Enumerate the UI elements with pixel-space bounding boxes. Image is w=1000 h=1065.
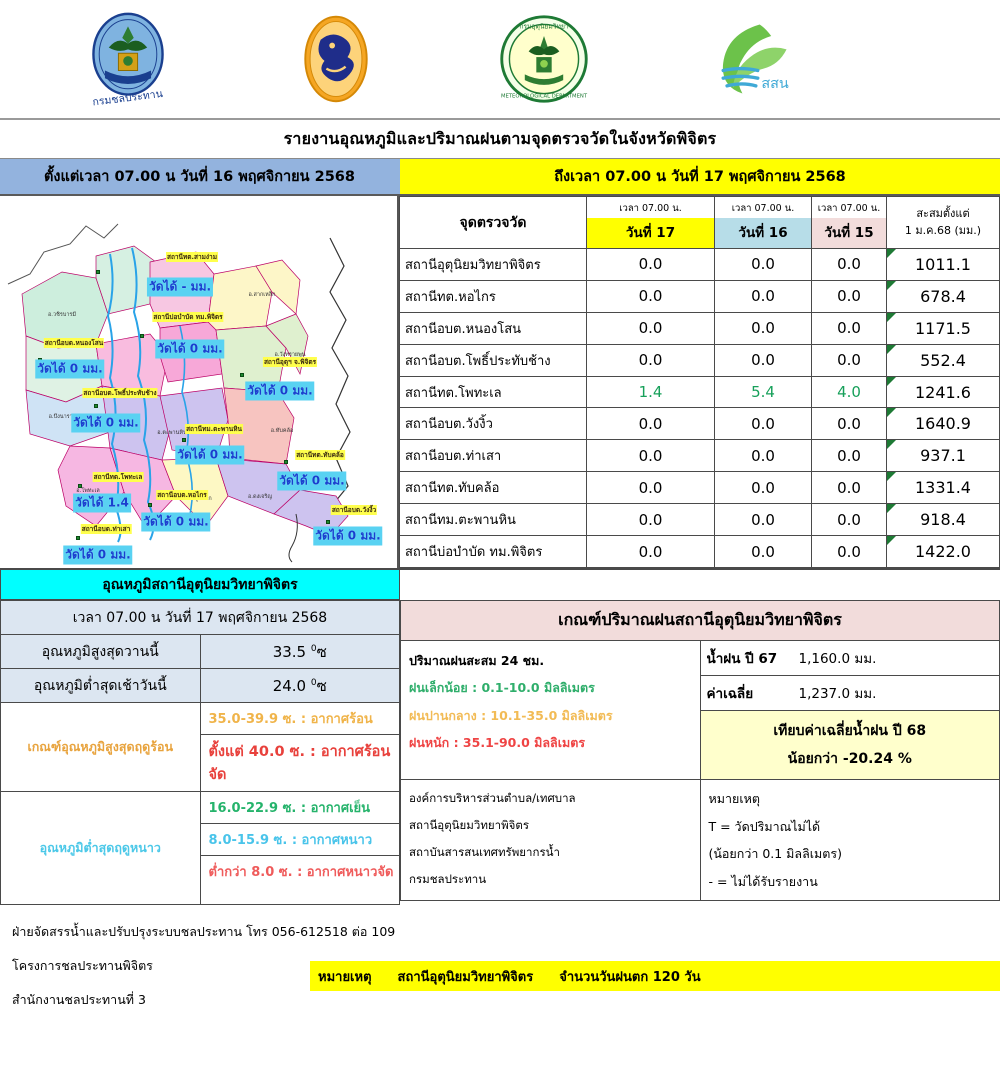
cell-day17: 0.0 — [587, 280, 715, 312]
temperature-timestamp: เวลา 07.00 น วันที่ 17 พฤศจิกายน 2568 — [1, 601, 400, 635]
temperature-panel: เวลา 07.00 น วันที่ 17 พฤศจิกายน 2568 อุ… — [0, 600, 400, 905]
table-row: สถานีอบต.หนองโสน0.00.00.01171.5 — [400, 312, 1000, 344]
organization-item: กรมชลประทาน — [409, 866, 700, 893]
map-station-marker — [182, 438, 186, 442]
cell-day16: 0.0 — [715, 504, 812, 536]
max-temp-value: 33.5 0ซ — [200, 635, 400, 669]
banner-spacer — [400, 568, 1000, 600]
table-header-row: จุดตรวจวัด เวลา 07.00 น. วันที่ 17 เวลา … — [400, 197, 1000, 249]
cell-accumulated: 918.4 — [887, 504, 1000, 536]
map-station-name-label: สถานีอุตุฯ จ.พิจิตร — [263, 357, 317, 367]
cold-criteria-line-3: ต่ำกว่า 8.0 ซ. : อากาศหนาวจัด — [200, 856, 400, 905]
note-item: (น้อยกว่า 0.1 มิลลิเมตร) — [709, 840, 1000, 868]
max-temp-row: อุณหภูมิสูงสุดวานนี้ 33.5 0ซ — [1, 635, 400, 669]
cell-accumulated: 1011.1 — [887, 249, 1000, 281]
cell-day17: 0.0 — [587, 344, 715, 376]
cell-day15: 0.0 — [812, 440, 887, 472]
temperature-table: เวลา 07.00 น วันที่ 17 พฤศจิกายน 2568 อุ… — [0, 600, 400, 905]
map-station-value-label: วัดได้ 0 มม. — [277, 471, 346, 490]
footer: ฝ่ายจัดสรรน้ำและปรับปรุงระบบชลประทาน โทร… — [0, 905, 1000, 1017]
table-row: สถานีทต.ทับคล้อ0.00.00.01331.4 — [400, 472, 1000, 504]
cell-day15: 0.0 — [812, 312, 887, 344]
map-station-marker — [240, 373, 244, 377]
comparison-line1: เทียบค่าเฉลี่ยน้ำฝน ปี 68 — [701, 717, 1000, 745]
cell-day16: 0.0 — [715, 344, 812, 376]
year67-rainfall-row: น้ำฝน ปี 671,160.0 มม. — [700, 641, 1000, 676]
table-row: สถานีทต.โพทะเล1.45.44.01241.6 — [400, 376, 1000, 408]
year67-value: 1,160.0 มม. — [799, 651, 877, 667]
cell-station-name: สถานีอุตุนิยมวิทยาพิจิตร — [400, 249, 587, 281]
table-row: สถานีทต.หอไกร0.00.00.0678.4 — [400, 280, 1000, 312]
cell-day15: 0.0 — [812, 249, 887, 281]
average-rainfall-row: ค่าเฉลี่ย1,237.0 มม. — [700, 676, 1000, 711]
map-station-value-label: วัดได้ 0 มม. — [313, 527, 382, 546]
footer-note-highlight: หมายเหตุ สถานีอุตุนิยมวิทยาพิจิตร จำนวนว… — [310, 961, 1000, 991]
cold-criteria-line-2: 8.0-15.9 ซ. : อากาศหนาว — [200, 824, 400, 856]
map-station-value-label: วัดได้ - มม. — [147, 278, 213, 297]
min-temp-unit: ซ — [317, 677, 327, 695]
cell-station-name: สถานีทต.หอไกร — [400, 280, 587, 312]
map-station-marker — [78, 484, 82, 488]
temperature-banner-row: อุณหภูมิสถานีอุตุนิยมวิทยาพิจิตร — [0, 568, 1000, 600]
organization-item: สถานีอุตุนิยมวิทยาพิจิตร — [409, 812, 700, 839]
notes-list: หมายเหตุ T = วัดปริมาณไม่ได้ (น้อยกว่า 0… — [700, 780, 1000, 901]
cell-station-name: สถานีบ่อบำบัด ทม.พิจิตร — [400, 536, 587, 568]
map-station-value-label: วัดได้ 1.4 — [73, 493, 131, 512]
map-station-value-label: วัดได้ 0 มม. — [245, 382, 314, 401]
col-header-day15-label: วันที่ 15 — [812, 218, 886, 248]
phichit-province-logo — [288, 11, 384, 107]
col-header-day15-time: เวลา 07.00 น. — [812, 197, 886, 218]
note-item: - = ไม่ได้รับรายงาน — [709, 868, 1000, 896]
map-station-name-label: สถานีทม.ตะพานหิน — [185, 424, 243, 434]
cold-criteria-label: อุณหภูมิต่ำสุดฤดูหนาว — [1, 792, 201, 905]
col-header-accumulated: สะสมตั้งแต่ 1 ม.ค.68 (มม.) — [887, 197, 1000, 249]
cell-station-name: สถานีอบต.โพธิ์ประทับช้าง — [400, 344, 587, 376]
svg-text:กรมอุตุนิยมวิทยา: กรมอุตุนิยมวิทยา — [519, 22, 569, 30]
cell-station-name: สถานีอบต.วังงิ้ว — [400, 408, 587, 440]
map-station-name-label: สถานีบ่อบำบัด ทม.พิจิตร — [152, 312, 223, 322]
hot-criteria-line-1: 35.0-39.9 ซ. : อากาศร้อน — [200, 703, 400, 735]
map-station-value-label: วัดได้ 0 มม. — [175, 445, 244, 464]
cell-day15: 0.0 — [812, 408, 887, 440]
svg-text:METEOROLOGICAL DEPARTMENT: METEOROLOGICAL DEPARTMENT — [501, 93, 588, 99]
cell-day15: 0.0 — [812, 536, 887, 568]
cell-day16: 0.0 — [715, 280, 812, 312]
note-item: T = วัดปริมาณไม่ได้ — [709, 813, 1000, 841]
max-temp-unit: ซ — [317, 643, 327, 661]
rainfall-criteria-header: เกณฑ์ปริมาณฝนสถานีอุตุนิยมวิทยาพิจิตร — [401, 601, 1000, 641]
svg-text:อ.ทับคล้อ: อ.ทับคล้อ — [271, 427, 294, 434]
map-station-marker — [94, 404, 98, 408]
table-row: สถานีอบต.ท่าเสา0.00.00.0937.1 — [400, 440, 1000, 472]
rainfall-level-heavy: ฝนหนัก : 35.1-90.0 มิลลิเมตร — [409, 729, 700, 756]
cold-criteria-line-1: 16.0-22.9 ซ. : อากาศเย็น — [200, 792, 400, 824]
rainfall-table: จุดตรวจวัด เวลา 07.00 น. วันที่ 17 เวลา … — [399, 196, 1000, 568]
date-range-bar: ตั้งแต่เวลา 07.00 น วันที่ 16 พฤศจิกายน … — [0, 158, 1000, 196]
max-temp-label: อุณหภูมิสูงสุดวานนี้ — [1, 635, 201, 669]
royal-irrigation-department-logo: กรมชลประทาน — [80, 11, 176, 107]
cell-day15: 0.0 — [812, 472, 887, 504]
footer-note-station: สถานีอุตุนิยมวิทยาพิจิตร — [398, 966, 534, 987]
footer-note-label: หมายเหตุ — [318, 966, 372, 987]
col-header-day16-label: วันที่ 16 — [715, 218, 811, 248]
table-row: สถานีอบต.โพธิ์ประทับช้าง0.00.00.0552.4 — [400, 344, 1000, 376]
rainfall-accum-title: ปริมาณฝนสะสม 24 ชม. — [409, 647, 700, 674]
min-temp-label: อุณหภูมิต่ำสุดเช้าวันนี้ — [1, 669, 201, 703]
cell-accumulated: 1640.9 — [887, 408, 1000, 440]
cell-day17: 0.0 — [587, 408, 715, 440]
map-station-marker — [140, 334, 144, 338]
cell-day16: 0.0 — [715, 440, 812, 472]
map-station-marker — [76, 536, 80, 540]
table-row: สถานีอุตุนิยมวิทยาพิจิตร0.00.00.01011.1 — [400, 249, 1000, 281]
page-title: รายงานอุณหภูมิและปริมาณฝนตามจุดตรวจวัดใน… — [0, 120, 1000, 158]
map-station-name-label: สถานีอบต.หนองโสน — [44, 338, 104, 348]
svg-text:อ.สากเหล็ก: อ.สากเหล็ก — [248, 290, 275, 298]
cell-accumulated: 1422.0 — [887, 536, 1000, 568]
cell-day17: 1.4 — [587, 376, 715, 408]
col-header-acc-line2: 1 ม.ค.68 (มม.) — [888, 223, 998, 240]
rainfall-table-body: สถานีอุตุนิยมวิทยาพิจิตร0.00.00.01011.1ส… — [400, 249, 1000, 568]
logo-bar: กรมชลประทาน กรมอุตุนิยมวิทยา METEOROLOGI… — [0, 0, 1000, 120]
table-row: สถานีทม.ตะพานหิน0.00.00.0918.4 — [400, 504, 1000, 536]
rainfall-levels-list: ปริมาณฝนสะสม 24 ชม. ฝนเล็กน้อย : 0.1-10.… — [401, 641, 701, 780]
temperature-banner: อุณหภูมิสถานีอุตุนิยมวิทยาพิจิตร — [0, 568, 400, 600]
map-station-name-label: สถานีอบต.โพธิ์ประทับช้าง — [82, 388, 157, 398]
hydro-informatics-institute-logo: สสน — [704, 11, 800, 107]
map-station-name-label: สถานีอบต.หอไกร — [156, 490, 208, 500]
map-station-marker — [148, 503, 152, 507]
hot-criteria-line-2: ตั้งแต่ 40.0 ซ. : อากาศร้อนจัด — [200, 735, 400, 792]
hot-criteria-row: เกณฑ์อุณหภูมิสูงสุดฤดูร้อน 35.0-39.9 ซ. … — [1, 703, 400, 735]
cell-day15: 0.0 — [812, 344, 887, 376]
table-row: สถานีอบต.วังงิ้ว0.00.00.01640.9 — [400, 408, 1000, 440]
map-station-name-label: สถานีทต.โพทะเล — [93, 472, 144, 482]
cell-accumulated: 1171.5 — [887, 312, 1000, 344]
map-station-value-label: วัดได้ 0 มม. — [155, 339, 224, 358]
col-header-station: จุดตรวจวัด — [400, 197, 587, 249]
cell-day17: 0.0 — [587, 312, 715, 344]
cold-criteria-row: อุณหภูมิต่ำสุดฤดูหนาว 16.0-22.9 ซ. : อาก… — [1, 792, 400, 824]
cell-day17: 0.0 — [587, 472, 715, 504]
cell-day17: 0.0 — [587, 536, 715, 568]
cell-day16: 0.0 — [715, 536, 812, 568]
map-station-value-label: วัดได้ 0 มม. — [63, 545, 132, 564]
cell-day16: 0.0 — [715, 312, 812, 344]
rainfall-criteria-panel: เกณฑ์ปริมาณฝนสถานีอุตุนิยมวิทยาพิจิตร ปร… — [400, 600, 1000, 905]
cell-day17: 0.0 — [587, 440, 715, 472]
map-station-value-label: วัดได้ 0 มม. — [71, 413, 140, 432]
date-from: ตั้งแต่เวลา 07.00 น วันที่ 16 พฤศจิกายน … — [0, 159, 400, 194]
lower-section: เวลา 07.00 น วันที่ 17 พฤศจิกายน 2568 อุ… — [0, 600, 1000, 905]
rainfall-table-container: จุดตรวจวัด เวลา 07.00 น. วันที่ 17 เวลา … — [399, 196, 1000, 568]
map-station-value-label: วัดได้ 0 มม. — [35, 359, 104, 378]
map-station-name-label: สถานีทต.ทับคล้อ — [295, 450, 345, 460]
svg-text:อ.ตะพานหิน: อ.ตะพานหิน — [157, 429, 187, 436]
cell-station-name: สถานีอบต.ท่าเสา — [400, 440, 587, 472]
date-to: ถึงเวลา 07.00 น วันที่ 17 พฤศจิกายน 2568 — [400, 159, 1000, 194]
phichit-province-map[interactable]: อ.วชิรบารมี อ.สากเหล็ก อ.โพธิ์ประทับช้าง… — [0, 196, 399, 568]
organization-item: องค์การบริหารส่วนตำบล/เทศบาล — [409, 785, 700, 812]
min-temp-row: อุณหภูมิต่ำสุดเช้าวันนี้ 24.0 0ซ — [1, 669, 400, 703]
rainfall-level-medium: ฝนปานกลาง : 10.1-35.0 มิลลิเมตร — [409, 702, 700, 729]
map-station-marker — [96, 270, 100, 274]
cell-station-name: สถานีทม.ตะพานหิน — [400, 504, 587, 536]
col-header-day15: เวลา 07.00 น. วันที่ 15 — [812, 197, 887, 249]
col-header-day16: เวลา 07.00 น. วันที่ 16 — [715, 197, 812, 249]
hot-criteria-label: เกณฑ์อุณหภูมิสูงสุดฤดูร้อน — [1, 703, 201, 792]
cell-day16: 0.0 — [715, 249, 812, 281]
min-temp-value: 24.0 0ซ — [200, 669, 400, 703]
cell-day16: 5.4 — [715, 376, 812, 408]
map-and-table-area: อ.วชิรบารมี อ.สากเหล็ก อ.โพธิ์ประทับช้าง… — [0, 196, 1000, 568]
cell-accumulated: 1241.6 — [887, 376, 1000, 408]
map-station-marker — [326, 520, 330, 524]
footer-line-1: ฝ่ายจัดสรรน้ำและปรับปรุงระบบชลประทาน โทร… — [12, 915, 1000, 949]
map-station-name-label: สถานีอบต.วังงิ้ว — [331, 505, 377, 515]
cell-accumulated: 552.4 — [887, 344, 1000, 376]
notes-title: หมายเหตุ — [709, 785, 1000, 813]
col-header-day17-label: วันที่ 17 — [587, 218, 714, 248]
svg-text:สสน: สสน — [761, 76, 789, 92]
cell-day17: 0.0 — [587, 249, 715, 281]
svg-text:อ.ดงเจริญ: อ.ดงเจริญ — [248, 493, 272, 500]
col-header-acc-line1: สะสมตั้งแต่ — [888, 206, 998, 223]
organization-item: สถาบันสารสนเทศทรัพยากรน้ำ — [409, 839, 700, 866]
col-header-day16-time: เวลา 07.00 น. — [715, 197, 811, 218]
cell-accumulated: 678.4 — [887, 280, 1000, 312]
cell-station-name: สถานีทต.ทับคล้อ — [400, 472, 587, 504]
table-row: สถานีบ่อบำบัด ทม.พิจิตร0.00.00.01422.0 — [400, 536, 1000, 568]
cell-day15: 0.0 — [812, 280, 887, 312]
map-station-value-label: วัดได้ 0 มม. — [141, 512, 210, 531]
cell-station-name: สถานีอบต.หนองโสน — [400, 312, 587, 344]
rainfall-criteria-table: เกณฑ์ปริมาณฝนสถานีอุตุนิยมวิทยาพิจิตร ปร… — [400, 600, 1000, 901]
max-temp-number: 33.5 — [273, 643, 306, 661]
cell-accumulated: 1331.4 — [887, 472, 1000, 504]
cell-day16: 0.0 — [715, 408, 812, 440]
cell-day15: 4.0 — [812, 376, 887, 408]
average-label: ค่าเฉลี่ย — [707, 682, 799, 704]
footer-note-days: จำนวนวันฝนตก 120 วัน — [559, 966, 700, 987]
cell-day15: 0.0 — [812, 504, 887, 536]
col-header-day17-time: เวลา 07.00 น. — [587, 197, 714, 218]
cell-station-name: สถานีทต.โพทะเล — [400, 376, 587, 408]
organizations-list: องค์การบริหารส่วนตำบล/เทศบาล สถานีอุตุนิ… — [401, 780, 701, 901]
cell-day16: 0.0 — [715, 472, 812, 504]
comparison-box: เทียบค่าเฉลี่ยน้ำฝน ปี 68 น้อยกว่า -20.2… — [700, 711, 1000, 780]
min-temp-number: 24.0 — [273, 677, 306, 695]
cell-accumulated: 937.1 — [887, 440, 1000, 472]
map-station-name-label: สถานีทต.สามง่าม — [166, 252, 218, 262]
cell-day17: 0.0 — [587, 504, 715, 536]
comparison-line2: น้อยกว่า -20.24 % — [701, 745, 1000, 773]
svg-text:อ.วชิรบารมี: อ.วชิรบารมี — [48, 311, 76, 318]
average-value: 1,237.0 มม. — [799, 686, 877, 702]
thai-meteorological-department-logo: กรมอุตุนิยมวิทยา METEOROLOGICAL DEPARTME… — [496, 11, 592, 107]
rainfall-level-light: ฝนเล็กน้อย : 0.1-10.0 มิลลิเมตร — [409, 674, 700, 701]
col-header-day17: เวลา 07.00 น. วันที่ 17 — [587, 197, 715, 249]
year67-label: น้ำฝน ปี 67 — [707, 647, 799, 669]
map-station-marker — [284, 460, 288, 464]
map-station-name-label: สถานีอบต.ท่าเสา — [81, 524, 132, 534]
